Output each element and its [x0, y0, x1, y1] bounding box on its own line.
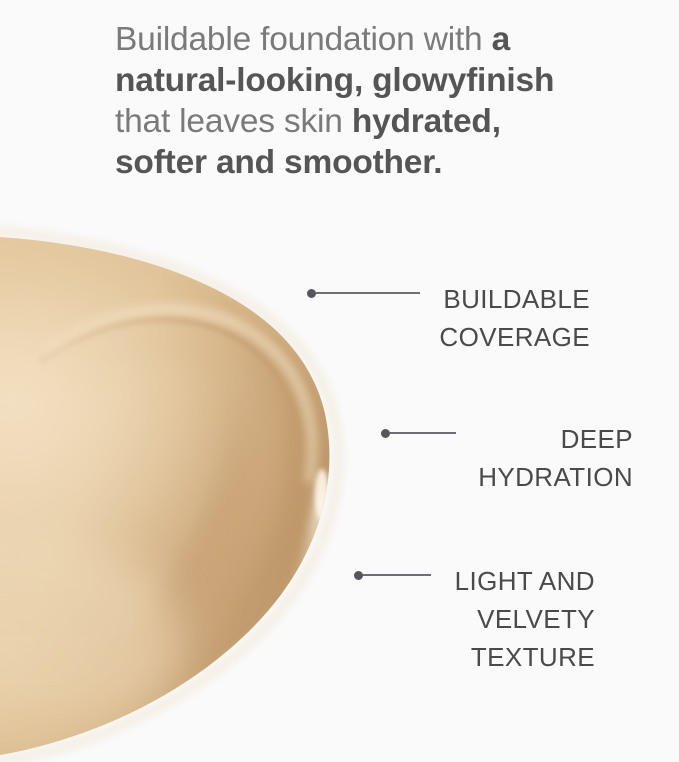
swatch-right-shadow: [196, 330, 309, 670]
headline-line-4: softer and smoother.: [115, 142, 615, 183]
callout-leader: [307, 288, 420, 298]
headline-line-1-bold: a: [492, 21, 510, 58]
swatch-fold-ridge: [40, 319, 303, 494]
callout-dot-icon: [381, 429, 390, 438]
headline-line-3-bold: hydrated,: [352, 103, 501, 140]
headline-line-1-light: Buildable foundation with: [115, 21, 492, 58]
swatch-center-highlight: [0, 280, 260, 580]
headline-line-3-light: that leaves skin: [115, 103, 352, 140]
swatch-specular: [315, 469, 329, 521]
swatch-gloss-streak: [286, 470, 326, 598]
headline: Buildable foundation with a natural-look…: [115, 19, 615, 183]
headline-line-2: natural-looking, glowyfinish: [115, 60, 615, 101]
callout-label-line-1: LIGHT AND: [437, 562, 595, 600]
headline-line-2-bold: natural-looking, glowyfinish: [115, 62, 554, 99]
callout-leader: [354, 570, 431, 580]
callout-rule: [363, 574, 431, 575]
swatch-edge-feather: [0, 224, 338, 762]
swatch-ridge-highlight: [44, 309, 312, 482]
headline-line-1: Buildable foundation with a: [115, 19, 615, 60]
callout-label-line-2: HYDRATION: [458, 458, 633, 496]
headline-line-4-bold: softer and smoother.: [115, 144, 442, 181]
callout-label: LIGHT AND VELVETY TEXTURE: [437, 562, 595, 676]
callout-dot-icon: [354, 571, 363, 580]
callout-rule: [316, 292, 420, 293]
swatch-wisp: [0, 251, 104, 300]
callout-label-line-2: VELVETY: [437, 600, 595, 638]
callout-label-line-3: TEXTURE: [437, 638, 595, 676]
swatch-fold-shadow: [52, 321, 296, 716]
callout-label: DEEP HYDRATION: [458, 420, 633, 496]
callout-rule: [390, 432, 456, 433]
callout-dot-icon: [307, 289, 316, 298]
product-graphic-canvas: Buildable foundation with a natural-look…: [0, 0, 679, 762]
headline-line-3: that leaves skin hydrated,: [115, 101, 615, 142]
callout-label-line-1: DEEP: [458, 420, 633, 458]
callout-label-line-2: COVERAGE: [424, 318, 590, 356]
callout-label-line-1: BUILDABLE: [424, 280, 590, 318]
callout-leader: [381, 428, 456, 438]
callout-label: BUILDABLE COVERAGE: [424, 280, 590, 356]
